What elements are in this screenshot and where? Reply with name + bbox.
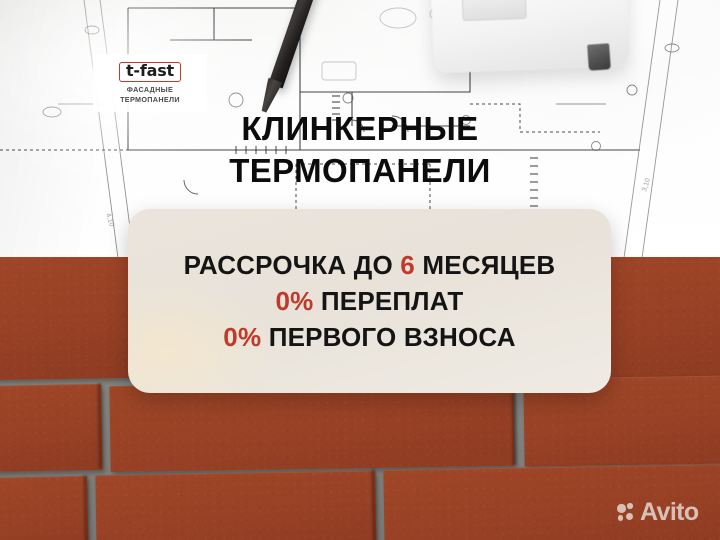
logo-box: t-fast xyxy=(119,62,181,82)
white-tool-foot xyxy=(587,43,611,70)
offer-line-2-suffix: ПЕРЕПЛАТ xyxy=(313,286,463,316)
offer-line-2: 0% ПЕРЕПЛАТ xyxy=(275,284,463,318)
logo-subtitle-line1: ФАСАДНЫЕ xyxy=(127,85,173,94)
offer-line-1-accent: 6 xyxy=(400,250,415,280)
logo-subtitle: ФАСАДНЫЕ ТЕРМОПАНЕЛИ xyxy=(120,85,180,103)
white-tool-slot xyxy=(461,0,526,21)
logo-subtitle-line2: ТЕРМОПАНЕЛИ xyxy=(120,95,180,104)
offer-line-1: РАССРОЧКА ДО 6 МЕСЯЦЕВ xyxy=(184,248,556,282)
headline-line-1: КЛИНКЕРНЫЕ xyxy=(0,108,720,150)
offer-card: РАССРОЧКА ДО 6 МЕСЯЦЕВ 0% ПЕРЕПЛАТ 0% ПЕ… xyxy=(128,209,611,393)
avito-dots-icon xyxy=(617,503,636,522)
offer-line-1-prefix: РАССРОЧКА ДО xyxy=(184,250,401,280)
offer-line-3: 0% ПЕРВОГО ВЗНОСА xyxy=(223,320,515,354)
brick xyxy=(109,380,514,472)
offer-line-1-suffix: МЕСЯЦЕВ xyxy=(415,250,555,280)
advertisement-banner: 2,8 4,10 3,10 xyxy=(0,0,720,540)
brick xyxy=(0,476,89,540)
offer-line-3-suffix: ПЕРВОГО ВЗНОСА xyxy=(261,322,515,352)
mortar-joint xyxy=(371,469,377,540)
avito-watermark: Avito xyxy=(617,500,699,525)
offer-line-3-accent: 0% xyxy=(223,322,261,352)
logo-brand-text: t-fast xyxy=(126,61,174,80)
page-title: КЛИНКЕРНЫЕ ТЕРМОПАНЕЛИ xyxy=(0,108,720,191)
brick xyxy=(0,257,135,380)
brick xyxy=(95,471,376,540)
brand-logo: t-fast ФАСАДНЫЕ ТЕРМОПАНЕЛИ xyxy=(93,54,207,112)
brick xyxy=(0,384,103,472)
offer-line-2-accent: 0% xyxy=(275,286,313,316)
headline-line-2: ТЕРМОПАНЕЛИ xyxy=(0,150,720,192)
mortar-joint xyxy=(83,475,89,540)
avito-wordmark: Avito xyxy=(640,500,699,525)
mortar-joint xyxy=(97,383,102,469)
